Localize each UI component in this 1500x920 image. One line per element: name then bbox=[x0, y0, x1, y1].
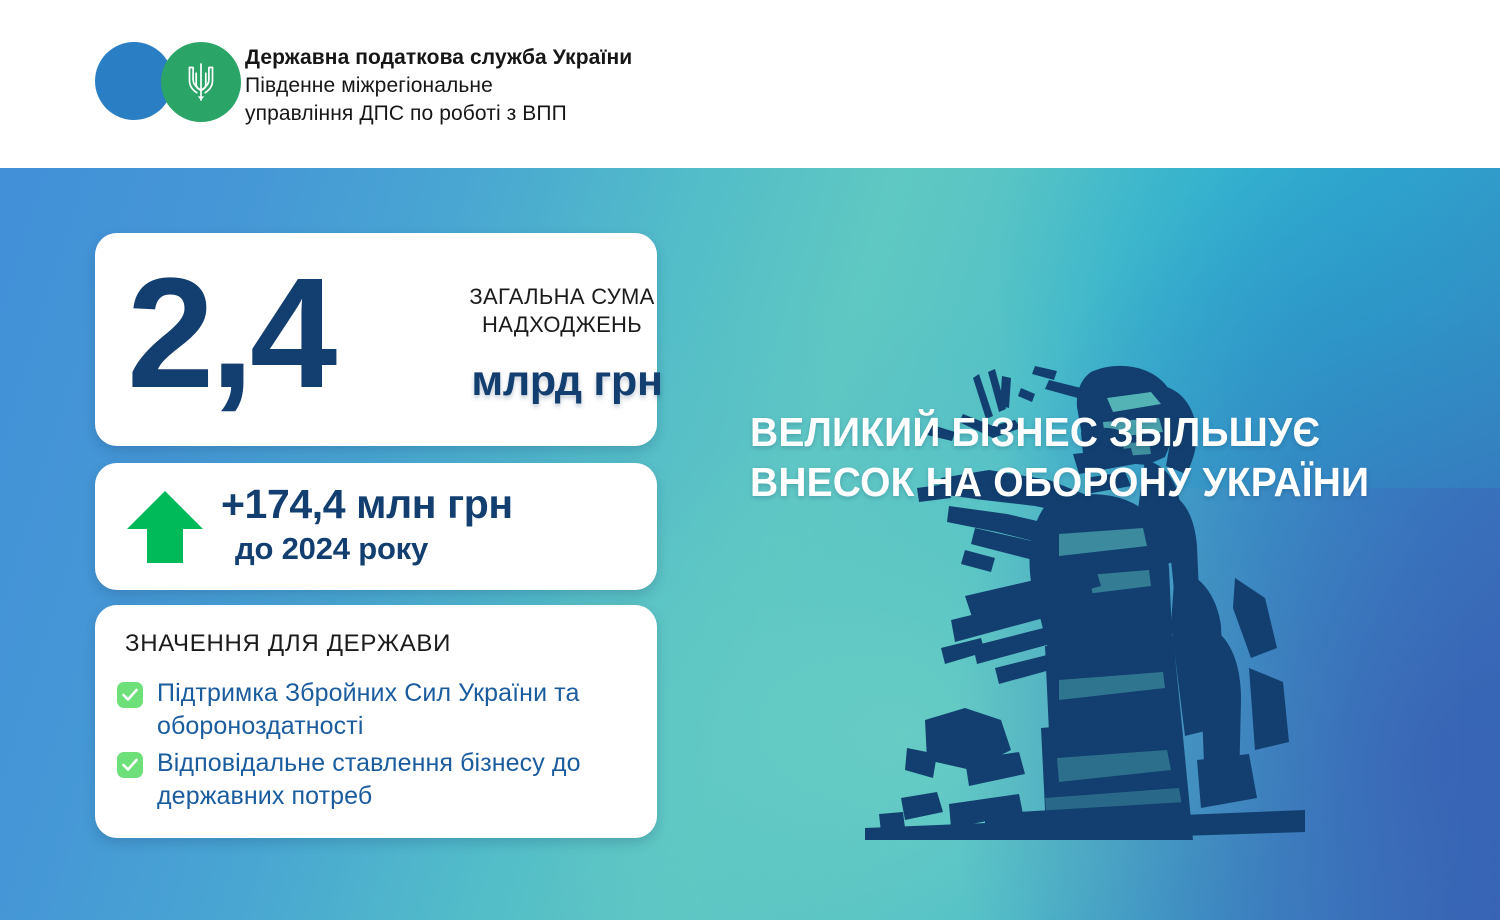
list-item-label: Підтримка Збройних Сил України та оборон… bbox=[157, 677, 641, 743]
list-item-label: Відповідальне ставлення бізнесу до держа… bbox=[157, 747, 641, 813]
headline-line-2: ВНЕСОК НА ОБОРОНУ УКРАЇНИ bbox=[750, 457, 1415, 507]
ukraine-trident-icon bbox=[184, 60, 218, 104]
check-icon bbox=[117, 682, 143, 708]
list-item: Підтримка Збройних Сил України та оборон… bbox=[117, 677, 641, 743]
total-amount-card: 2,4 ЗАГАЛЬНА СУМА НАДХОДЖЕНЬ млрд грн bbox=[95, 233, 657, 446]
state-value-card: ЗНАЧЕННЯ ДЛЯ ДЕРЖАВИ Підтримка Збройних … bbox=[95, 605, 657, 838]
headline: ВЕЛИКИЙ БІЗНЕС ЗБІЛЬШУЄ ВНЕСОК НА ОБОРОН… bbox=[750, 407, 1415, 507]
total-amount-label: ЗАГАЛЬНА СУМА НАДХОДЖЕНЬ bbox=[467, 283, 657, 339]
list-item: Відповідальне ставлення бізнесу до держа… bbox=[117, 747, 641, 813]
agency-name-line-3: управління ДПС по роботі з ВПП bbox=[245, 100, 1005, 128]
infographic-root: Державна податкова служба України Півден… bbox=[0, 0, 1500, 920]
agency-name-block: Державна податкова служба України Півден… bbox=[245, 44, 1005, 128]
header-band: Державна податкова служба України Півден… bbox=[0, 0, 1500, 168]
agency-name-line-1: Державна податкова служба України bbox=[245, 44, 1005, 72]
green-circle-icon bbox=[161, 42, 241, 122]
check-icon bbox=[117, 752, 143, 778]
headline-line-1: ВЕЛИКИЙ БІЗНЕС ЗБІЛЬШУЄ bbox=[750, 407, 1415, 457]
growth-comparison: до 2024 року bbox=[235, 531, 428, 567]
state-value-list: Підтримка Збройних Сил України та оборон… bbox=[117, 677, 641, 817]
growth-amount: +174,4 млн грн bbox=[221, 481, 513, 528]
arrow-up-icon bbox=[125, 487, 205, 567]
total-amount-value: 2,4 bbox=[127, 255, 333, 412]
agency-name-line-2: Південне міжрегіональне bbox=[245, 72, 1005, 100]
growth-card: +174,4 млн грн до 2024 року bbox=[95, 463, 657, 590]
agency-logo bbox=[95, 42, 245, 122]
state-value-title: ЗНАЧЕННЯ ДЛЯ ДЕРЖАВИ bbox=[125, 630, 451, 658]
soldier-silhouette bbox=[845, 328, 1325, 840]
total-amount-unit: млрд грн bbox=[467, 357, 667, 406]
